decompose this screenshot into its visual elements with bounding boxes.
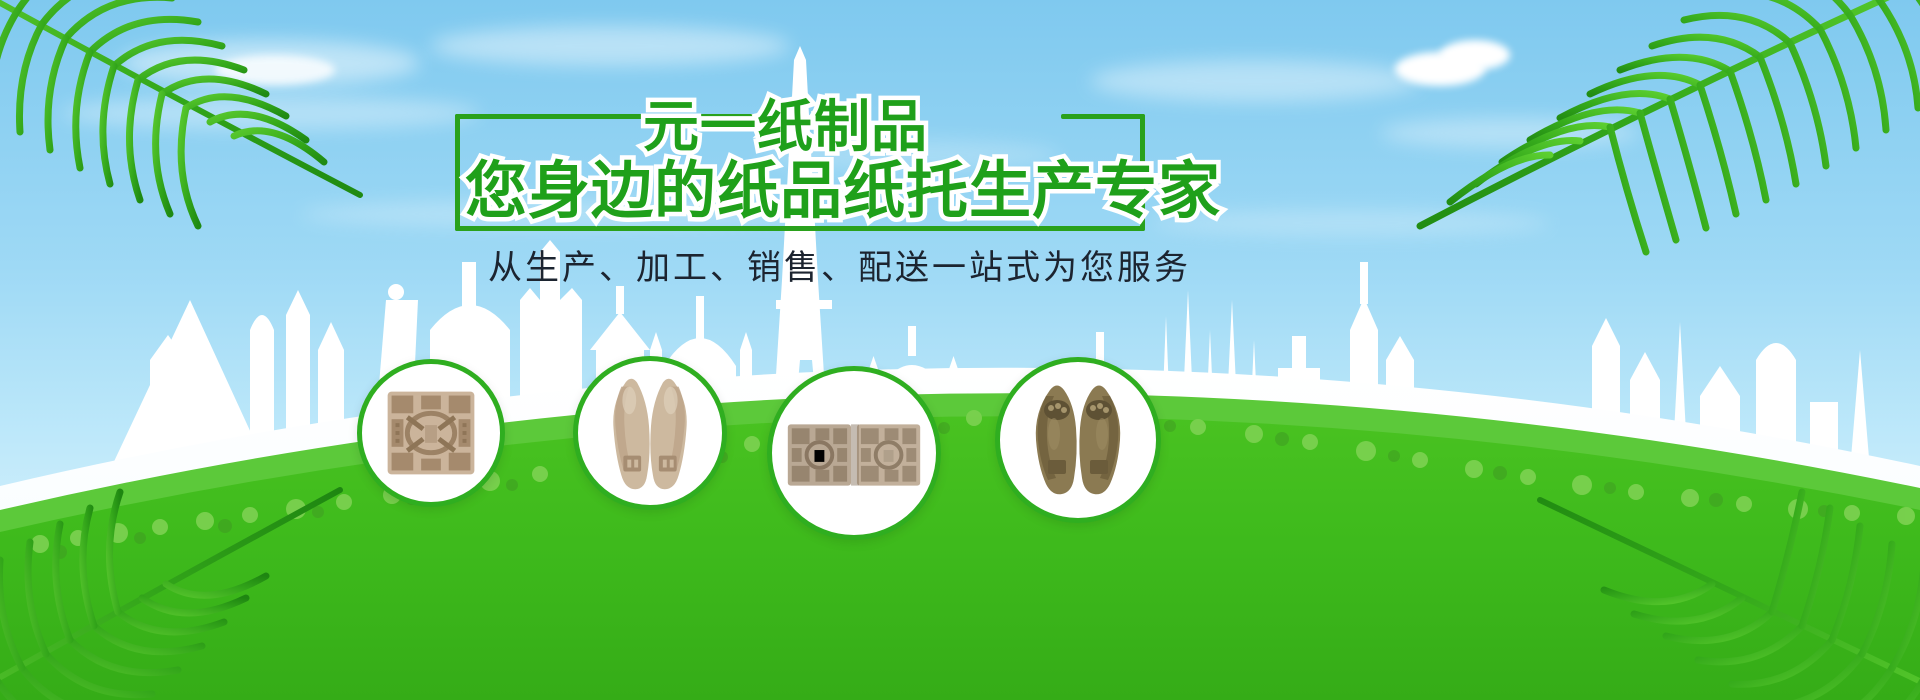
- product-showcase: [0, 0, 1920, 700]
- product-circle-3[interactable]: [767, 366, 941, 540]
- product-circle-1[interactable]: [357, 359, 505, 507]
- paper-pulp-packaging-insert-icon: [772, 371, 936, 535]
- promo-banner: 元一纸制品 您身边的纸品纸托生产专家 从生产、加工、销售、配送一站式为您服务: [0, 0, 1920, 700]
- paper-pulp-shoe-insert-icon: [578, 361, 722, 505]
- paper-pulp-tray-icon: [362, 364, 500, 502]
- paper-pulp-shoe-tree-icon: [1000, 362, 1156, 518]
- product-circle-4[interactable]: [995, 357, 1161, 523]
- product-circle-2[interactable]: [573, 356, 727, 510]
